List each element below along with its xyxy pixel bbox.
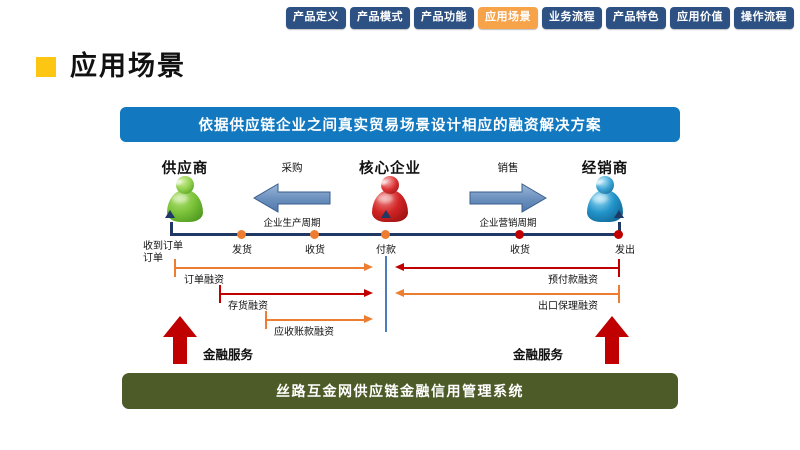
inventory-financing-arrowhead-icon	[364, 289, 373, 297]
export-factoring-arrowhead-icon	[395, 289, 404, 297]
prepayment-financing-arrowhead-icon	[395, 263, 404, 271]
timeline-dot-发货	[237, 230, 246, 239]
order-financing-label: 订单融资	[184, 271, 224, 286]
timeline-label-收到订单: 收到订单	[143, 241, 183, 253]
timeline-marker-distributor	[614, 210, 624, 218]
title-bullet-square-icon	[36, 57, 56, 77]
nav-item-产品特色[interactable]: 产品特色	[606, 7, 666, 29]
block-arrow-left-icon	[252, 182, 332, 219]
receivables-financing-label: 应收账款融资	[274, 323, 334, 338]
timeline-dot-收货-right	[515, 230, 524, 239]
page-title: 应用场景	[70, 53, 186, 80]
prepayment-financing-bar	[404, 267, 619, 269]
timeline-label-收货-left: 收货	[285, 241, 345, 256]
system-name-bar: 丝路互金网供应链金融信用管理系统	[122, 373, 678, 409]
timeline-label-付款: 付款	[356, 241, 416, 256]
nav-item-业务流程[interactable]: 业务流程	[542, 7, 602, 29]
nav-item-操作流程[interactable]: 操作流程	[734, 7, 794, 29]
nav-item-产品模式[interactable]: 产品模式	[350, 7, 410, 29]
timeline-marker-supplier	[165, 210, 175, 218]
prepayment-financing-label: 预付款融资	[548, 271, 598, 286]
timeline-left-cap	[170, 222, 173, 234]
up-arrow-icon-left	[163, 316, 197, 364]
service-label-left: 金融服务	[203, 344, 253, 363]
role-label-supplier: 供应商	[135, 157, 235, 178]
nav-item-产品定义[interactable]: 产品定义	[286, 7, 346, 29]
banner-statement: 依据供应链企业之间真实贸易场景设计相应的融资解决方案	[120, 107, 680, 142]
nav-item-产品功能[interactable]: 产品功能	[414, 7, 474, 29]
page-title-row: 应用场景	[36, 53, 186, 80]
role-label-distributor: 经销商	[555, 157, 655, 178]
export-factoring-label: 出口保理融资	[538, 297, 598, 312]
timeline-label-发出: 发出	[600, 241, 650, 256]
center-divider	[385, 256, 387, 332]
cycle-label-production: 企业生产周期	[242, 215, 342, 229]
timeline-label-收货-right: 收货	[490, 241, 550, 256]
slide-canvas: 产品定义 产品模式 产品功能 应用场景 业务流程 产品特色 应用价值 操作流程 …	[0, 0, 800, 450]
nav-item-应用价值[interactable]: 应用价值	[670, 7, 730, 29]
timeline-dot-付款	[381, 230, 390, 239]
flow-label-sales: 销售	[458, 160, 558, 175]
order-financing-arrowhead-icon	[364, 263, 373, 271]
timeline-dot-发出	[614, 230, 623, 239]
nav-item-应用场景[interactable]: 应用场景	[478, 7, 538, 29]
role-label-core-enterprise: 核心企业	[340, 157, 440, 178]
cycle-label-marketing: 企业营销周期	[458, 215, 558, 229]
receivables-financing-arrowhead-icon	[364, 315, 373, 323]
timeline-dot-收货-left	[310, 230, 319, 239]
up-arrow-icon-right	[595, 316, 629, 364]
service-label-right: 金融服务	[513, 344, 563, 363]
flow-label-purchase: 采购	[242, 160, 342, 175]
export-factoring-bar	[404, 293, 619, 295]
timeline-marker-core	[381, 210, 391, 218]
block-arrow-right-icon	[468, 182, 548, 219]
order-financing-bar	[174, 267, 364, 269]
timeline-label-订单: 订单	[143, 253, 163, 265]
inventory-financing-bar	[219, 293, 364, 295]
receivables-financing-bar	[265, 319, 364, 321]
timeline-label-发货: 发货	[212, 241, 272, 256]
top-navigation: 产品定义 产品模式 产品功能 应用场景 业务流程 产品特色 应用价值 操作流程	[286, 7, 794, 29]
inventory-financing-label: 存货融资	[228, 297, 268, 312]
